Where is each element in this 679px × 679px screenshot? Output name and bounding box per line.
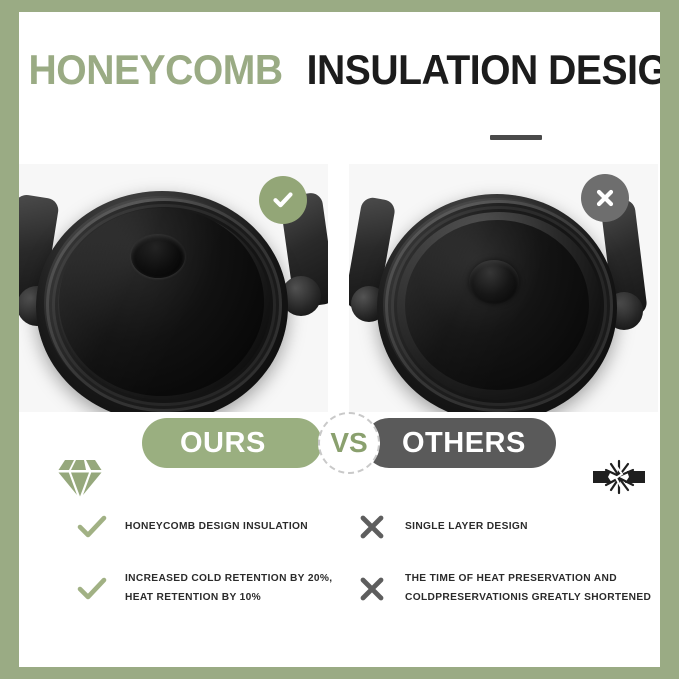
vs-circle: VS — [318, 412, 380, 474]
cross-icon — [355, 572, 389, 606]
feature-ours-text: INCREASED COLD RETENTION BY 20%, HEAT RE… — [125, 570, 332, 608]
page-title: HONEYCOMB INSULATION DESIGN — [19, 46, 660, 94]
check-icon — [75, 510, 109, 544]
dash-divider-icon — [490, 135, 542, 140]
cross-icon — [592, 185, 618, 211]
comparison-banner: OURS OTHERS VS — [19, 412, 660, 474]
pot-lid-hole-ours — [131, 234, 185, 278]
title-rest: INSULATION DESIGN — [307, 46, 660, 94]
feature-ours-text: HONEYCOMB DESIGN INSULATION — [125, 518, 308, 537]
pot-center-knob-others — [469, 260, 519, 304]
feature-row: HONEYCOMB DESIGN INSULATION SINGLE LAYER… — [19, 496, 660, 558]
pill-ours-label: OURS — [180, 427, 266, 460]
cross-icon — [355, 510, 389, 544]
feature-others: THE TIME OF HEAT PRESERVATION AND COLDPR… — [355, 558, 655, 620]
broken-burst-icon — [591, 454, 647, 500]
infographic-root: HONEYCOMB INSULATION DESIGN — [0, 0, 679, 679]
product-photo-ours — [19, 164, 328, 412]
feature-others-text: SINGLE LAYER DESIGN — [405, 518, 528, 537]
pill-others: OTHERS — [364, 418, 556, 468]
vs-label: VS — [330, 427, 367, 459]
pill-others-label: OTHERS — [402, 427, 526, 460]
status-badge-rejected — [581, 174, 629, 222]
title-highlight: HONEYCOMB — [29, 46, 283, 94]
infographic-card: HONEYCOMB INSULATION DESIGN — [19, 12, 660, 667]
feature-others-text: THE TIME OF HEAT PRESERVATION AND COLDPR… — [405, 570, 651, 608]
feature-comparison-list: HONEYCOMB DESIGN INSULATION SINGLE LAYER… — [19, 496, 660, 620]
feature-ours: HONEYCOMB DESIGN INSULATION — [75, 496, 365, 558]
product-photo-others — [349, 164, 658, 412]
status-badge-approved — [259, 176, 307, 224]
check-icon — [75, 572, 109, 606]
feature-others: SINGLE LAYER DESIGN — [355, 496, 655, 558]
pill-ours: OURS — [142, 418, 322, 468]
feature-ours: INCREASED COLD RETENTION BY 20%, HEAT RE… — [75, 558, 365, 620]
feature-row: INCREASED COLD RETENTION BY 20%, HEAT RE… — [19, 558, 660, 620]
diamond-icon — [56, 455, 104, 499]
pot-inner-bowl-others — [405, 220, 589, 390]
check-icon — [270, 187, 296, 213]
